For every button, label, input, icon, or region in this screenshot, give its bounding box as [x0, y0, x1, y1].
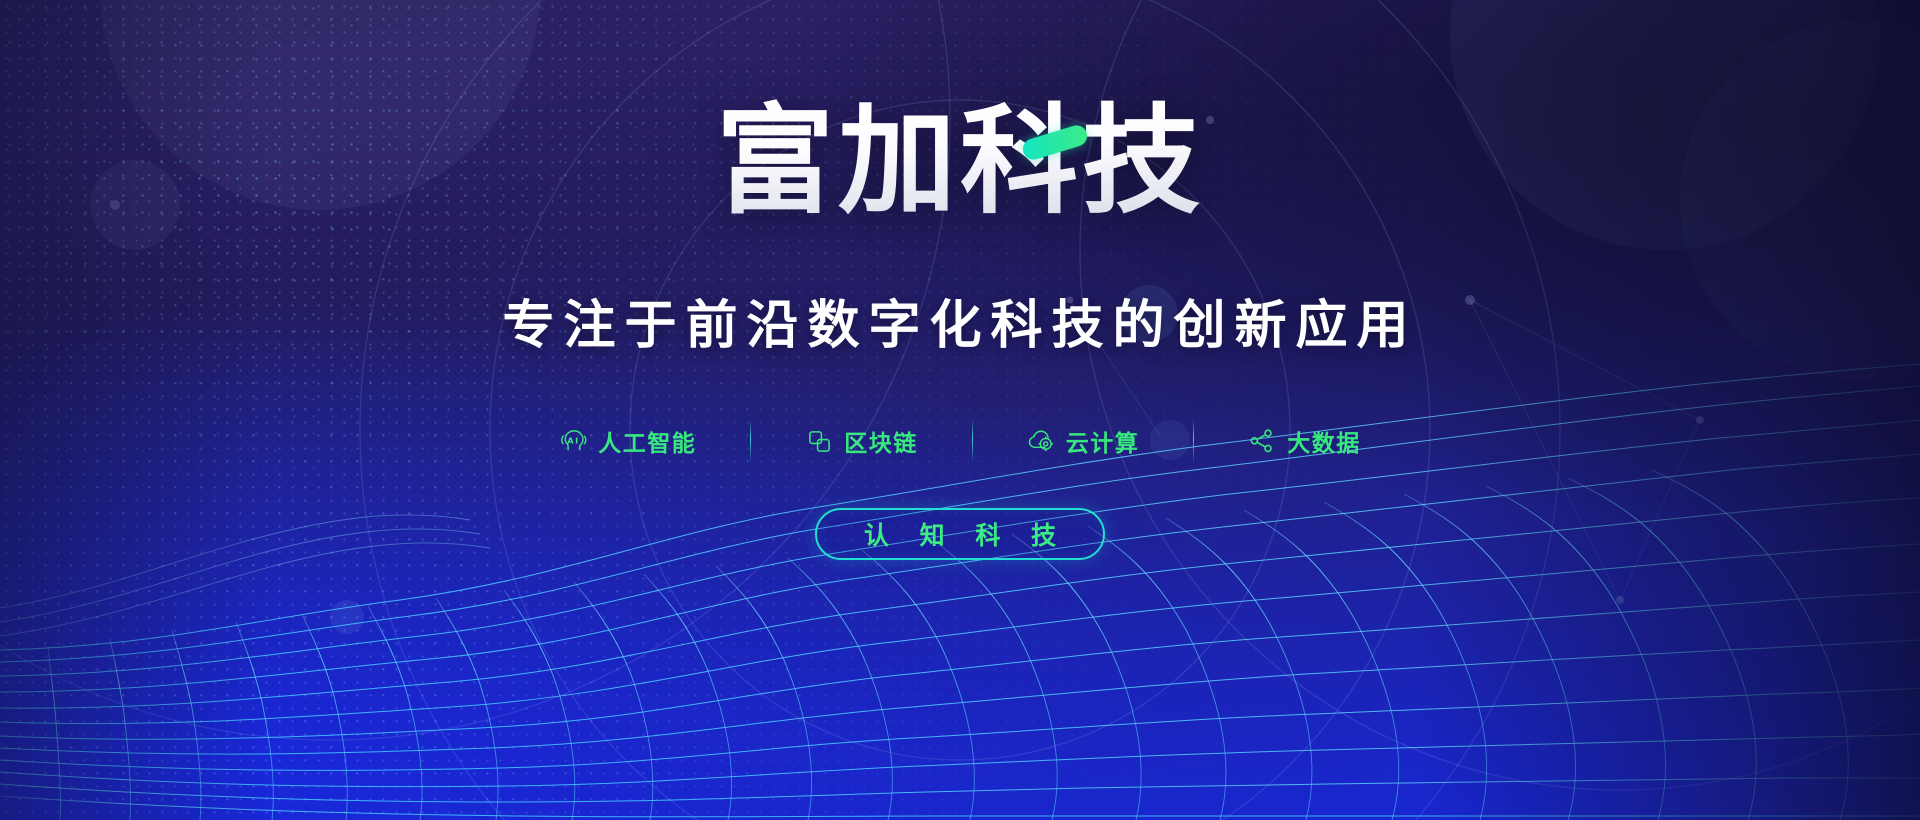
feature-tag-bigdata[interactable]: 大数据 [1194, 418, 1415, 464]
svg-text:AI: AI [567, 435, 579, 445]
ai-head-icon: AI [559, 427, 587, 455]
feature-tag-label: 云计算 [1066, 424, 1140, 458]
feature-tag-list: AI 人工智能 区块链 [0, 418, 1920, 464]
feature-tag-cloud[interactable]: 云计算 [973, 418, 1194, 464]
cloud-gear-icon [1027, 427, 1055, 455]
cognitive-tech-badge[interactable]: 认 知 科 技 [815, 508, 1105, 560]
feature-tag-ai[interactable]: AI 人工智能 [505, 418, 750, 464]
feature-tag-label: 大数据 [1287, 424, 1361, 458]
hero-banner: 富加科技 专注于前沿数字化科技的创新应用 AI 人工智能 [0, 0, 1920, 820]
badge-row: 认 知 科 技 [0, 508, 1920, 560]
feature-tag-label: 人工智能 [598, 424, 696, 458]
page-title: 富加科技 [0, 86, 1920, 237]
feature-tag-label: 区块链 [844, 424, 918, 458]
share-network-icon [1248, 427, 1276, 455]
feature-tag-blockchain[interactable]: 区块链 [751, 418, 972, 464]
hero-subtitle: 专注于前沿数字化科技的创新应用 [0, 283, 1920, 358]
blockchain-blocks-icon [805, 427, 833, 455]
